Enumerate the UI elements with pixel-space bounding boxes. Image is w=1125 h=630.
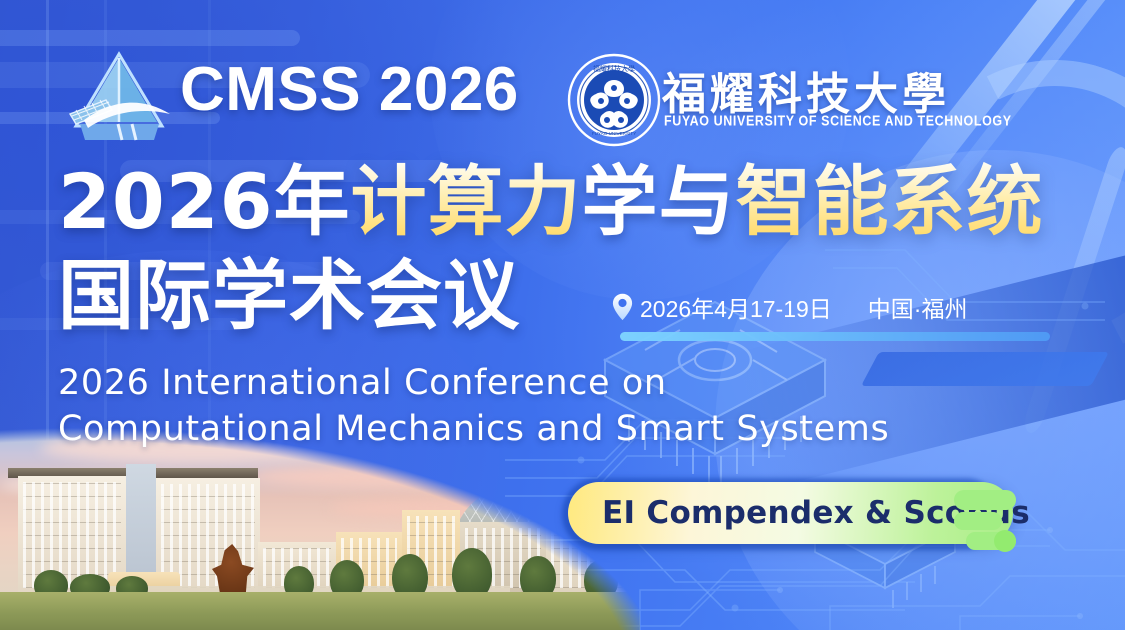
english-title-line1: 2026 International Conference on bbox=[58, 360, 889, 406]
svg-text:FUYAO UNIVERSITY: FUYAO UNIVERSITY bbox=[592, 131, 636, 136]
english-title: 2026 International Conference on Computa… bbox=[58, 360, 889, 452]
banner-header: CMSS 2026 福耀科技大學 FUYAO UNIVERSITY 福耀科 bbox=[0, 0, 1125, 150]
e-dot bbox=[994, 530, 1016, 552]
title-segment-gold-1: 计算力 bbox=[351, 157, 582, 246]
cmss-mesh-triangle-logo bbox=[62, 48, 177, 146]
accent-underline-bar bbox=[620, 332, 1050, 341]
title-segment-white-2: 学与 bbox=[582, 157, 736, 246]
university-name-en: FUYAO UNIVERSITY OF SCIENCE AND TECHNOLO… bbox=[664, 113, 1012, 129]
event-date: 2026年4月17-19日 bbox=[640, 290, 832, 324]
title-segment-gold-2: 智能系统 bbox=[736, 157, 1044, 246]
fuyao-university-seal: 福耀科技大學 FUYAO UNIVERSITY bbox=[566, 52, 662, 148]
title-segment-white-1: 2026年 bbox=[58, 157, 351, 246]
e-stripe bbox=[954, 512, 1002, 530]
e-stripe bbox=[954, 490, 1016, 510]
accent-skew-bar bbox=[861, 352, 1109, 386]
main-title-line2: 国际学术会议 bbox=[58, 254, 520, 338]
english-title-line2: Computational Mechanics and Smart System… bbox=[58, 406, 889, 452]
event-meta: 2026年4月17-19日 中国·福州 bbox=[612, 290, 967, 324]
conference-banner: CMSS 2026 福耀科技大學 FUYAO UNIVERSITY 福耀科 bbox=[0, 0, 1125, 630]
location-pin-icon bbox=[612, 293, 633, 321]
main-title-line1: 2026年计算力学与智能系统 bbox=[58, 160, 1044, 244]
cmss-title: CMSS 2026 bbox=[180, 54, 519, 125]
indexing-badge-wrap: EI Compendex & Scopus bbox=[560, 482, 1030, 557]
lawn bbox=[0, 592, 640, 630]
event-location: 中国·福州 bbox=[868, 290, 968, 324]
svg-text:福耀科技大學: 福耀科技大學 bbox=[593, 64, 635, 73]
window-grid bbox=[23, 482, 121, 588]
e-stripes-mark bbox=[942, 486, 1016, 556]
